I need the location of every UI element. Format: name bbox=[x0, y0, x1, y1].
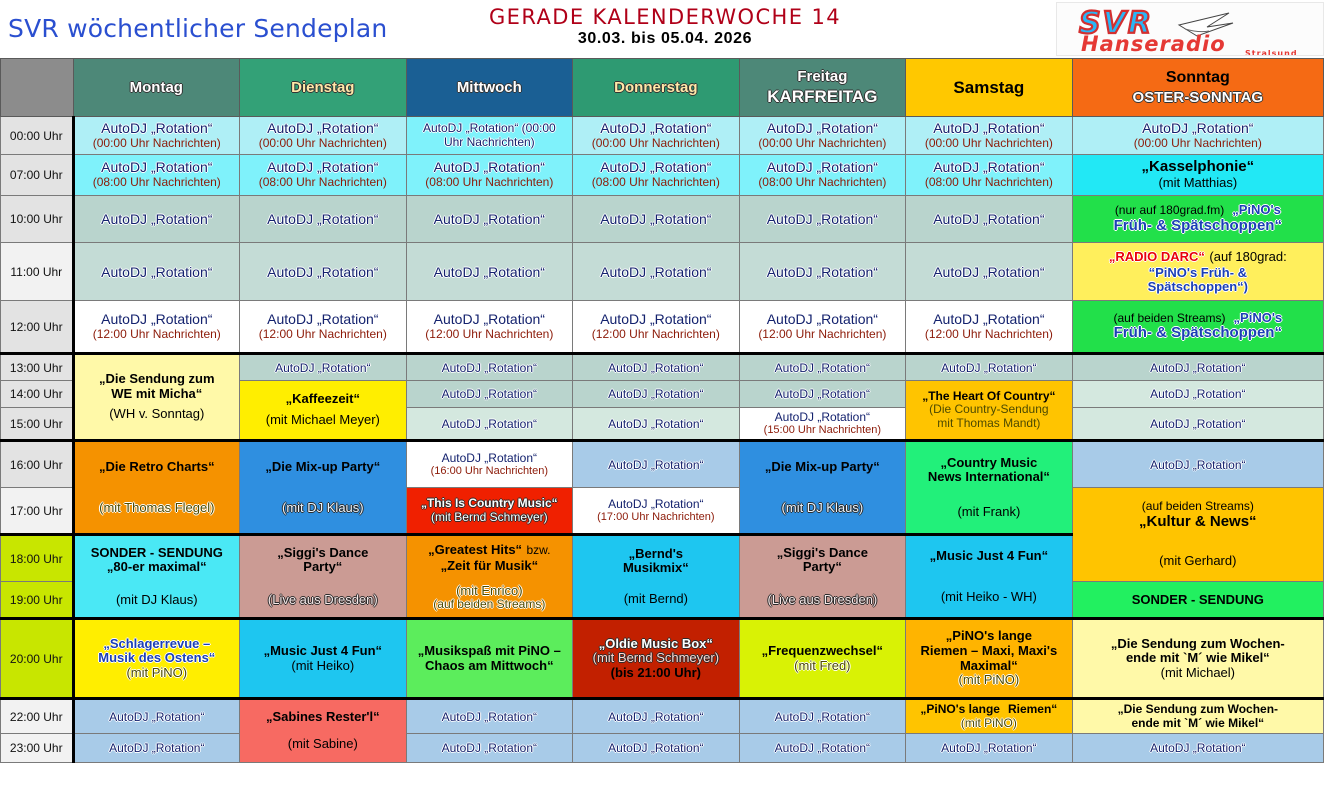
program-title-l1: „Siggi's Dance bbox=[242, 546, 404, 561]
program-sub: (00:00 Uhr Nachrichten) bbox=[77, 137, 238, 150]
cell-fr-2000[interactable]: „Frequenzwechsel“ (mit Fred) bbox=[739, 619, 906, 699]
program-sub: (mit Bernd) bbox=[575, 592, 737, 607]
program-title-l1: „Country Music bbox=[908, 456, 1070, 471]
cell-fr-0000[interactable]: AutoDJ „Rotation“ (00:00 Uhr Nachrichten… bbox=[739, 117, 906, 155]
cell-mi-1800-block[interactable]: „Greatest Hits“ bzw. „Zeit für Musik“ (m… bbox=[406, 535, 573, 619]
cell-sa-1800-block[interactable]: „Music Just 4 Fun“ (mit Heiko - WH) bbox=[906, 535, 1073, 619]
program-title-l2: „Zeit für Musik“ bbox=[409, 559, 571, 574]
program-sub: (mit Frank) bbox=[908, 505, 1070, 520]
time-label-1400: 14:00 Uhr bbox=[1, 381, 74, 408]
cell-di-1800-block[interactable]: „Siggi's Dance Party“ (Live aus Dresden) bbox=[240, 535, 407, 619]
cell-do-1100[interactable]: AutoDJ „Rotation“ bbox=[573, 243, 740, 301]
cell-di-1300[interactable]: AutoDJ „Rotation“ bbox=[240, 354, 407, 381]
program-sub: (08:00 Uhr Nachrichten) bbox=[409, 176, 571, 189]
cell-so-1000[interactable]: (nur auf 180grad.fm) „PiNO's Früh- & Spä… bbox=[1072, 196, 1323, 243]
cell-mo-2000[interactable]: „Schlagerrevue – Musik des Ostens“ (mit … bbox=[73, 619, 240, 699]
cell-fr-1300[interactable]: AutoDJ „Rotation“ bbox=[739, 354, 906, 381]
program-title-l2: Musikmix“ bbox=[575, 561, 737, 576]
cell-mo-1000[interactable]: AutoDJ „Rotation“ bbox=[73, 196, 240, 243]
cell-do-2300[interactable]: AutoDJ „Rotation“ bbox=[573, 734, 740, 763]
cell-mi-1500[interactable]: AutoDJ „Rotation“ bbox=[406, 408, 573, 441]
program-title-l2: Musik des Ostens“ bbox=[77, 651, 238, 666]
program-sub-l1: (mit Bernd Schmeyer) bbox=[575, 651, 737, 666]
program-sub: (mit PiNO) bbox=[908, 673, 1070, 688]
program-title: „Music Just 4 Fun“ bbox=[908, 549, 1070, 564]
cell-mo-1100[interactable]: AutoDJ „Rotation“ bbox=[73, 243, 240, 301]
program-title: AutoDJ „Rotation“ bbox=[409, 361, 571, 375]
program-title: AutoDJ „Rotation“ bbox=[575, 264, 737, 280]
cell-fr-2200[interactable]: AutoDJ „Rotation“ bbox=[739, 699, 906, 734]
schedule-row-2000: 20:00 Uhr „Schlagerrevue – Musik des Ost… bbox=[1, 619, 1324, 699]
cell-mi-1400[interactable]: AutoDJ „Rotation“ bbox=[406, 381, 573, 408]
time-label-1900: 19:00 Uhr bbox=[1, 582, 74, 619]
cell-so-1200[interactable]: (auf beiden Streams) „PiNO's Früh- & Spä… bbox=[1072, 301, 1323, 354]
program-sub-l2: (bis 21:00 Uhr) bbox=[575, 666, 737, 681]
program-title: AutoDJ „Rotation“ bbox=[409, 741, 571, 755]
time-label-2000: 20:00 Uhr bbox=[1, 619, 74, 699]
cell-so-1500[interactable]: AutoDJ „Rotation“ bbox=[1072, 408, 1323, 441]
cell-do-1200[interactable]: AutoDJ „Rotation“ (12:00 Uhr Nachrichten… bbox=[573, 301, 740, 354]
program-title: AutoDJ „Rotation“ bbox=[742, 160, 904, 176]
program-title-l2: Chaos am Mittwoch“ bbox=[409, 659, 571, 674]
program-title: „Sabines Rester'l“ bbox=[242, 710, 404, 725]
time-label-2300: 23:00 Uhr bbox=[1, 734, 74, 763]
program-title-l3: Spätschoppen“) bbox=[1075, 280, 1321, 295]
time-label-0000: 00:00 Uhr bbox=[1, 117, 74, 155]
program-title: AutoDJ „Rotation“ bbox=[742, 264, 904, 280]
program-title: AutoDJ „Rotation“ bbox=[575, 361, 737, 375]
program-title-l2: ende mit `M´ wie Mikel“ bbox=[1075, 717, 1321, 730]
program-title: „Die Mix-up Party“ bbox=[242, 460, 404, 475]
program-title: „Frequenzwechsel“ bbox=[742, 644, 904, 659]
weekly-schedule-table: Montag Dienstag Mittwoch Donnerstag Frei… bbox=[0, 58, 1324, 763]
program-note: (auf 180grad: bbox=[1209, 249, 1286, 264]
program-sub: (00:00 Uhr Nachrichten) bbox=[242, 137, 404, 150]
svr-logo: SVR Hanseradio Stralsund bbox=[1056, 2, 1324, 56]
program-title: „PiNO's bbox=[1232, 203, 1281, 218]
program-title: AutoDJ „Rotation“ bbox=[409, 452, 571, 465]
program-title: AutoDJ „Rotation“ bbox=[575, 211, 737, 227]
program-title-l2: Riemen – Maxi, Maxi's bbox=[908, 644, 1070, 659]
cell-di-0700[interactable]: AutoDJ „Rotation“ (08:00 Uhr Nachrichten… bbox=[240, 155, 407, 196]
cell-sa-1000[interactable]: AutoDJ „Rotation“ bbox=[906, 196, 1073, 243]
cell-mo-1800-block[interactable]: SONDER - SENDUNG „80-er maximal“ (mit DJ… bbox=[73, 535, 240, 619]
program-note: (nur auf 180grad.fm) bbox=[1115, 204, 1224, 217]
program-title: AutoDJ „Rotation“ bbox=[908, 160, 1070, 176]
schedule-row-2300: 23:00 Uhr AutoDJ „Rotation“ AutoDJ „Rota… bbox=[1, 734, 1324, 763]
cell-mi-1300[interactable]: AutoDJ „Rotation“ bbox=[406, 354, 573, 381]
program-title: „PiNO's bbox=[1234, 311, 1283, 326]
program-sub: (00:00 Uhr Nachrichten) bbox=[742, 137, 904, 150]
program-sub: (12:00 Uhr Nachrichten) bbox=[908, 328, 1070, 341]
time-label-1100: 11:00 Uhr bbox=[1, 243, 74, 301]
cell-mo-1600-block[interactable]: „Die Retro Charts“ (mit Thomas Flegel) bbox=[73, 441, 240, 535]
program-sub: (mit Thomas Flegel) bbox=[77, 501, 238, 516]
schedule-row-2200: 22:00 Uhr AutoDJ „Rotation“ „Sabines Res… bbox=[1, 699, 1324, 734]
program-title: AutoDJ „Rotation“ bbox=[409, 417, 571, 431]
program-title: „This Is Country Music“ bbox=[409, 497, 571, 510]
cell-fr-1200[interactable]: AutoDJ „Rotation“ (12:00 Uhr Nachrichten… bbox=[739, 301, 906, 354]
program-title: AutoDJ „Rotation“ bbox=[908, 121, 1070, 137]
program-sub: (mit Heiko - WH) bbox=[908, 590, 1070, 605]
schedule-row-1300: 13:00 Uhr „Die Sendung zum WE mit Micha“… bbox=[1, 354, 1324, 381]
day-header-samstag: Samstag bbox=[906, 59, 1073, 117]
cell-do-1500[interactable]: AutoDJ „Rotation“ bbox=[573, 408, 740, 441]
schedule-row-0700: 07:00 Uhr AutoDJ „Rotation“ (08:00 Uhr N… bbox=[1, 155, 1324, 196]
program-title: AutoDJ „Rotation“ bbox=[242, 264, 404, 280]
cell-so-1700-block[interactable]: (auf beiden Streams) „Kultur & News“ (mi… bbox=[1072, 488, 1323, 582]
program-title: AutoDJ „Rotation“ bbox=[409, 312, 571, 328]
day-header-dienstag: Dienstag bbox=[240, 59, 407, 117]
cell-sa-2200[interactable]: „PiNO's lange Riemen“ (mit PiNO) bbox=[906, 699, 1073, 734]
program-title: AutoDJ „Rotation“ bbox=[742, 312, 904, 328]
cell-so-1600[interactable]: AutoDJ „Rotation“ bbox=[1072, 441, 1323, 488]
program-title-l2: Riemen“ bbox=[1008, 703, 1057, 716]
program-sub: (mit Bernd Schmeyer) bbox=[409, 511, 571, 524]
cell-sa-1200[interactable]: AutoDJ „Rotation“ (12:00 Uhr Nachrichten… bbox=[906, 301, 1073, 354]
program-title: AutoDJ „Rotation“ bbox=[242, 361, 404, 375]
program-title: AutoDJ „Rotation“ bbox=[77, 710, 238, 724]
program-sub: (mit PiNO) bbox=[961, 717, 1017, 730]
cell-fr-1000[interactable]: AutoDJ „Rotation“ bbox=[739, 196, 906, 243]
program-sub: (mit Michael Meyer) bbox=[242, 413, 404, 428]
program-sonder: SONDER - SENDUNG bbox=[1075, 592, 1321, 607]
cell-di-1200[interactable]: AutoDJ „Rotation“ (12:00 Uhr Nachrichten… bbox=[240, 301, 407, 354]
program-title: AutoDJ „Rotation“ bbox=[409, 264, 571, 280]
program-title: AutoDJ „Rotation“ bbox=[1075, 458, 1321, 472]
day-label-sonntag: Sonntag bbox=[1166, 69, 1230, 86]
program-title-l2: ende mit `M´ wie Mikel“ bbox=[1075, 651, 1321, 666]
program-title: AutoDJ „Rotation“ (00:00 bbox=[409, 122, 571, 135]
program-title: „Die Mix-up Party“ bbox=[742, 460, 904, 475]
program-title: AutoDJ „Rotation“ bbox=[575, 458, 737, 472]
program-title: AutoDJ „Rotation“ bbox=[409, 160, 571, 176]
program-sub: (00:00 Uhr Nachrichten) bbox=[575, 137, 737, 150]
program-title: „Music Just 4 Fun“ bbox=[242, 644, 404, 659]
cell-mo-2300[interactable]: AutoDJ „Rotation“ bbox=[73, 734, 240, 763]
time-label-1500: 15:00 Uhr bbox=[1, 408, 74, 441]
schedule-row-1600: 16:00 Uhr „Die Retro Charts“ (mit Thomas… bbox=[1, 441, 1324, 488]
program-sub: (mit DJ Klaus) bbox=[242, 501, 404, 516]
program-sub: (08:00 Uhr Nachrichten) bbox=[908, 176, 1070, 189]
calendar-week-label: GERADE KALENDERWOCHE 14 bbox=[430, 5, 900, 29]
program-sub: (mit Heiko) bbox=[242, 659, 404, 674]
program-sub: (16:00 Uhr Nachrichten) bbox=[409, 465, 571, 477]
program-title-l1: „Greatest Hits“ bbox=[428, 542, 522, 557]
program-title: AutoDJ „Rotation“ bbox=[908, 361, 1070, 375]
program-sub: (mit Michael) bbox=[1075, 666, 1321, 681]
cell-so-2200[interactable]: „Die Sendung zum Wochen- ende mit `M´ wi… bbox=[1072, 699, 1323, 734]
program-title: AutoDJ „Rotation“ bbox=[742, 741, 904, 755]
cell-do-2200[interactable]: AutoDJ „Rotation“ bbox=[573, 699, 740, 734]
program-title: AutoDJ „Rotation“ bbox=[242, 160, 404, 176]
program-title: AutoDJ „Rotation“ bbox=[742, 411, 904, 424]
cell-sa-1100[interactable]: AutoDJ „Rotation“ bbox=[906, 243, 1073, 301]
program-sub: (08:00 Uhr Nachrichten) bbox=[77, 176, 238, 189]
program-title: AutoDJ „Rotation“ bbox=[908, 211, 1070, 227]
cell-mi-2300[interactable]: AutoDJ „Rotation“ bbox=[406, 734, 573, 763]
day-label-samstag: Samstag bbox=[953, 78, 1024, 97]
cell-sa-2000[interactable]: „PiNO's lange Riemen – Maxi, Maxi's Maxi… bbox=[906, 619, 1073, 699]
time-label-1000: 10:00 Uhr bbox=[1, 196, 74, 243]
program-sub: (mit DJ Klaus) bbox=[742, 501, 904, 516]
program-sub: (mit PiNO) bbox=[77, 666, 238, 681]
program-title: „80-er maximal“ bbox=[77, 560, 238, 575]
cell-do-1600[interactable]: AutoDJ „Rotation“ bbox=[573, 441, 740, 488]
program-title: AutoDJ „Rotation“ bbox=[908, 741, 1070, 755]
program-sub: (00:00 Uhr Nachrichten) bbox=[908, 137, 1070, 150]
cell-fr-1800-block[interactable]: „Siggi's Dance Party“ (Live aus Dresden) bbox=[739, 535, 906, 619]
time-label-1600: 16:00 Uhr bbox=[1, 441, 74, 488]
cell-so-1100[interactable]: „RADIO DARC“ (auf 180grad: “PiNO's Früh-… bbox=[1072, 243, 1323, 301]
program-title-l2: News International“ bbox=[908, 470, 1070, 485]
program-title: AutoDJ „Rotation“ bbox=[575, 160, 737, 176]
week-info: GERADE KALENDERWOCHE 14 30.03. bis 05.04… bbox=[430, 5, 900, 48]
cell-so-0000[interactable]: AutoDJ „Rotation“ (00:00 Uhr Nachrichten… bbox=[1072, 117, 1323, 155]
cell-mi-1600[interactable]: AutoDJ „Rotation“ (16:00 Uhr Nachrichten… bbox=[406, 441, 573, 488]
schedule-row-1100: 11:00 Uhr AutoDJ „Rotation“ AutoDJ „Rota… bbox=[1, 243, 1324, 301]
program-title: „Oldie Music Box“ bbox=[575, 637, 737, 652]
program-sonder: SONDER - SENDUNG bbox=[77, 546, 238, 561]
cell-fr-1500[interactable]: AutoDJ „Rotation“ (15:00 Uhr Nachrichten… bbox=[739, 408, 906, 441]
program-title-l2: Party“ bbox=[242, 560, 404, 575]
cell-mi-2000[interactable]: „Musikspaß mit PiNO – Chaos am Mittwoch“ bbox=[406, 619, 573, 699]
program-sub-l2: (auf beiden Streams) bbox=[409, 598, 571, 611]
time-label-1800: 18:00 Uhr bbox=[1, 535, 74, 582]
cell-do-1300[interactable]: AutoDJ „Rotation“ bbox=[573, 354, 740, 381]
schedule-page: SVR wöchentlicher Sendeplan GERADE KALEN… bbox=[0, 0, 1324, 794]
program-sub: (08:00 Uhr Nachrichten) bbox=[742, 176, 904, 189]
program-sub: (Live aus Dresden) bbox=[242, 593, 404, 608]
program-title: AutoDJ „Rotation“ bbox=[742, 361, 904, 375]
cell-mo-0000[interactable]: AutoDJ „Rotation“ (00:00 Uhr Nachrichten… bbox=[73, 117, 240, 155]
program-title: AutoDJ „Rotation“ bbox=[409, 211, 571, 227]
program-title: AutoDJ „Rotation“ bbox=[77, 312, 238, 328]
program-title-l1: „Musikspaß mit PiNO – bbox=[409, 644, 571, 659]
program-title-l1: „PiNO's lange bbox=[908, 629, 1070, 644]
day-label-freitag: Freitag bbox=[797, 68, 847, 85]
program-title: „Die Sendung zum bbox=[77, 372, 238, 387]
day-label-dienstag: Dienstag bbox=[291, 79, 354, 96]
cell-so-0700[interactable]: „Kasselphonie“ (mit Matthias) bbox=[1072, 155, 1323, 196]
cell-so-1300[interactable]: AutoDJ „Rotation“ bbox=[1072, 354, 1323, 381]
day-label-donnerstag: Donnerstag bbox=[614, 79, 697, 96]
program-sub: (08:00 Uhr Nachrichten) bbox=[242, 176, 404, 189]
schedule-row-0000: 00:00 Uhr AutoDJ „Rotation“ (00:00 Uhr N… bbox=[1, 117, 1324, 155]
cell-mo-1300-block[interactable]: „Die Sendung zum WE mit Micha“ (WH v. So… bbox=[73, 354, 240, 441]
schedule-row-1000: 10:00 Uhr AutoDJ „Rotation“ AutoDJ „Rota… bbox=[1, 196, 1324, 243]
program-title: AutoDJ „Rotation“ bbox=[575, 417, 737, 431]
cell-mi-2200[interactable]: AutoDJ „Rotation“ bbox=[406, 699, 573, 734]
program-title-cont: Uhr Nachrichten) bbox=[409, 136, 571, 149]
cell-mi-1200[interactable]: AutoDJ „Rotation“ (12:00 Uhr Nachrichten… bbox=[406, 301, 573, 354]
program-sub: (08:00 Uhr Nachrichten) bbox=[575, 176, 737, 189]
program-sub-l1: (Die Country-Sendung bbox=[908, 403, 1070, 416]
program-sub: (mit Fred) bbox=[742, 659, 904, 674]
program-title: „RADIO DARC“ bbox=[1109, 249, 1205, 264]
cell-so-2000[interactable]: „Die Sendung zum Wochen- ende mit `M´ wi… bbox=[1072, 619, 1323, 699]
program-title: AutoDJ „Rotation“ bbox=[242, 312, 404, 328]
day-header-donnerstag: Donnerstag bbox=[573, 59, 740, 117]
program-sub: (12:00 Uhr Nachrichten) bbox=[742, 328, 904, 341]
program-title: AutoDJ „Rotation“ bbox=[242, 121, 404, 137]
program-sub: (Live aus Dresden) bbox=[742, 593, 904, 608]
cell-fr-2300[interactable]: AutoDJ „Rotation“ bbox=[739, 734, 906, 763]
cell-di-2200-block[interactable]: „Sabines Rester'l“ (mit Sabine) bbox=[240, 699, 407, 763]
cell-sa-2300[interactable]: AutoDJ „Rotation“ bbox=[906, 734, 1073, 763]
cell-di-2000[interactable]: „Music Just 4 Fun“ (mit Heiko) bbox=[240, 619, 407, 699]
page-header: SVR wöchentlicher Sendeplan GERADE KALEN… bbox=[0, 0, 1324, 58]
cell-sa-1400-block[interactable]: „The Heart Of Country“ (Die Country-Send… bbox=[906, 381, 1073, 441]
program-title: AutoDJ „Rotation“ bbox=[409, 387, 571, 401]
cell-do-1800-block[interactable]: „Bernd's Musikmix“ (mit Bernd) bbox=[573, 535, 740, 619]
program-title: AutoDJ „Rotation“ bbox=[575, 710, 737, 724]
cell-di-0000[interactable]: AutoDJ „Rotation“ (00:00 Uhr Nachrichten… bbox=[240, 117, 407, 155]
cell-do-1700[interactable]: AutoDJ „Rotation“ (17:00 Uhr Nachrichten… bbox=[573, 488, 740, 535]
time-label-2200: 22:00 Uhr bbox=[1, 699, 74, 734]
cell-so-2300[interactable]: AutoDJ „Rotation“ bbox=[1072, 734, 1323, 763]
program-title: AutoDJ „Rotation“ bbox=[1075, 417, 1321, 431]
program-title: AutoDJ „Rotation“ bbox=[742, 710, 904, 724]
program-sub: (17:00 Uhr Nachrichten) bbox=[575, 511, 737, 523]
page-title: SVR wöchentlicher Sendeplan bbox=[8, 14, 387, 43]
day-header-row: Montag Dienstag Mittwoch Donnerstag Frei… bbox=[1, 59, 1324, 117]
program-title: „Kultur & News“ bbox=[1075, 514, 1321, 531]
program-sub: (00:00 Uhr Nachrichten) bbox=[1075, 137, 1321, 150]
cell-sa-1300[interactable]: AutoDJ „Rotation“ bbox=[906, 354, 1073, 381]
program-title: AutoDJ „Rotation“ bbox=[77, 741, 238, 755]
svg-text:Stralsund: Stralsund bbox=[1245, 49, 1298, 56]
svr-logo-graphic: SVR Hanseradio Stralsund bbox=[1057, 3, 1324, 56]
day-header-montag: Montag bbox=[73, 59, 240, 117]
cell-mo-2200[interactable]: AutoDJ „Rotation“ bbox=[73, 699, 240, 734]
program-title-l1: „Die Sendung zum Wochen- bbox=[1075, 703, 1321, 716]
cell-sa-0700[interactable]: AutoDJ „Rotation“ (08:00 Uhr Nachrichten… bbox=[906, 155, 1073, 196]
cell-mi-1700[interactable]: „This Is Country Music“ (mit Bernd Schme… bbox=[406, 488, 573, 535]
program-title: AutoDJ „Rotation“ bbox=[77, 121, 238, 137]
program-sub: (12:00 Uhr Nachrichten) bbox=[77, 328, 238, 341]
cell-sa-0000[interactable]: AutoDJ „Rotation“ (00:00 Uhr Nachrichten… bbox=[906, 117, 1073, 155]
program-title-l3: Maximal“ bbox=[908, 659, 1070, 674]
program-title-cont: Früh- & Spätschoppen“ bbox=[1075, 218, 1321, 235]
cell-do-1000[interactable]: AutoDJ „Rotation“ bbox=[573, 196, 740, 243]
program-title: AutoDJ „Rotation“ bbox=[575, 741, 737, 755]
program-title: AutoDJ „Rotation“ bbox=[77, 211, 238, 227]
program-title-l1: „Die Sendung zum Wochen- bbox=[1075, 637, 1321, 652]
cell-do-1400[interactable]: AutoDJ „Rotation“ bbox=[573, 381, 740, 408]
corner-cell bbox=[1, 59, 74, 117]
day-sub-karfreitag: KARFREITAG bbox=[742, 87, 904, 107]
program-sub: (12:00 Uhr Nachrichten) bbox=[242, 328, 404, 341]
cell-so-1900[interactable]: SONDER - SENDUNG bbox=[1072, 582, 1323, 619]
cell-sa-1600-block[interactable]: „Country Music News International“ (mit … bbox=[906, 441, 1073, 535]
program-title: „Kasselphonie“ bbox=[1075, 159, 1321, 176]
time-label-0700: 07:00 Uhr bbox=[1, 155, 74, 196]
time-label-1700: 17:00 Uhr bbox=[1, 488, 74, 535]
cell-fr-0700[interactable]: AutoDJ „Rotation“ (08:00 Uhr Nachrichten… bbox=[739, 155, 906, 196]
cell-mi-1100[interactable]: AutoDJ „Rotation“ bbox=[406, 243, 573, 301]
cell-do-0700[interactable]: AutoDJ „Rotation“ (08:00 Uhr Nachrichten… bbox=[573, 155, 740, 196]
program-title: AutoDJ „Rotation“ bbox=[908, 264, 1070, 280]
day-header-sonntag: Sonntag OSTER-SONNTAG bbox=[1072, 59, 1323, 117]
day-header-freitag: Freitag KARFREITAG bbox=[739, 59, 906, 117]
cell-do-0000[interactable]: AutoDJ „Rotation“ (00:00 Uhr Nachrichten… bbox=[573, 117, 740, 155]
program-title-cont: WE mit Micha“ bbox=[77, 387, 238, 402]
program-title-cont: Früh- & Spätschoppen“ bbox=[1075, 325, 1321, 342]
program-title: AutoDJ „Rotation“ bbox=[908, 312, 1070, 328]
program-sub: (mit DJ Klaus) bbox=[77, 593, 238, 608]
cell-mi-0700[interactable]: AutoDJ „Rotation“ (08:00 Uhr Nachrichten… bbox=[406, 155, 573, 196]
program-title: AutoDJ „Rotation“ bbox=[575, 312, 737, 328]
program-sub-l1: (mit Enrico) bbox=[409, 584, 571, 599]
day-label-montag: Montag bbox=[130, 79, 183, 96]
program-sub: (12:00 Uhr Nachrichten) bbox=[409, 328, 571, 341]
program-title: AutoDJ „Rotation“ bbox=[77, 160, 238, 176]
program-title: „Kaffeezeit“ bbox=[242, 392, 404, 407]
program-sub: (mit Matthias) bbox=[1075, 176, 1321, 191]
program-title: AutoDJ „Rotation“ bbox=[575, 387, 737, 401]
program-sub: (WH v. Sonntag) bbox=[77, 407, 238, 422]
program-title-l1: „Bernd's bbox=[575, 547, 737, 562]
program-title: AutoDJ „Rotation“ bbox=[1075, 361, 1321, 375]
program-title-l1: „PiNO's lange bbox=[920, 703, 1000, 716]
cell-mi-1000[interactable]: AutoDJ „Rotation“ bbox=[406, 196, 573, 243]
program-title-l2: Party“ bbox=[742, 560, 904, 575]
cell-do-2000[interactable]: „Oldie Music Box“ (mit Bernd Schmeyer) (… bbox=[573, 619, 740, 699]
program-title: AutoDJ „Rotation“ bbox=[575, 121, 737, 137]
program-title-l1: „Siggi's Dance bbox=[742, 546, 904, 561]
program-sub: (mit Sabine) bbox=[242, 737, 404, 752]
program-title-l2: “PiNO's Früh- & bbox=[1075, 266, 1321, 281]
svg-text:Hanseradio: Hanseradio bbox=[1081, 32, 1226, 56]
cell-mo-0700[interactable]: AutoDJ „Rotation“ (08:00 Uhr Nachrichten… bbox=[73, 155, 240, 196]
program-title: AutoDJ „Rotation“ bbox=[1075, 741, 1321, 755]
day-label-mittwoch: Mittwoch bbox=[457, 79, 522, 96]
program-title: AutoDJ „Rotation“ bbox=[1075, 121, 1321, 137]
day-sub-ostersonntag: OSTER-SONNTAG bbox=[1075, 89, 1321, 106]
program-title: AutoDJ „Rotation“ bbox=[77, 264, 238, 280]
cell-mi-0000[interactable]: AutoDJ „Rotation“ (00:00 Uhr Nachrichten… bbox=[406, 117, 573, 155]
time-label-1300: 13:00 Uhr bbox=[1, 354, 74, 381]
program-title: AutoDJ „Rotation“ bbox=[742, 121, 904, 137]
program-title: AutoDJ „Rotation“ bbox=[575, 498, 737, 511]
time-label-1200: 12:00 Uhr bbox=[1, 301, 74, 354]
cell-fr-1400[interactable]: AutoDJ „Rotation“ bbox=[739, 381, 906, 408]
cell-di-1000[interactable]: AutoDJ „Rotation“ bbox=[240, 196, 407, 243]
program-sub-l2: mit Thomas Mandt) bbox=[908, 417, 1070, 430]
program-title: AutoDJ „Rotation“ bbox=[742, 387, 904, 401]
cell-fr-1600-block[interactable]: „Die Mix-up Party“ (mit DJ Klaus) bbox=[739, 441, 906, 535]
cell-so-1400[interactable]: AutoDJ „Rotation“ bbox=[1072, 381, 1323, 408]
program-sub: (12:00 Uhr Nachrichten) bbox=[575, 328, 737, 341]
cell-di-1100[interactable]: AutoDJ „Rotation“ bbox=[240, 243, 407, 301]
program-sub: (15:00 Uhr Nachrichten) bbox=[742, 424, 904, 436]
program-note: (auf beiden Streams) bbox=[1113, 312, 1225, 325]
cell-di-1400-block[interactable]: „Kaffeezeit“ (mit Michael Meyer) bbox=[240, 381, 407, 441]
program-title: AutoDJ „Rotation“ bbox=[1075, 387, 1321, 401]
cell-mo-1200[interactable]: AutoDJ „Rotation“ (12:00 Uhr Nachrichten… bbox=[73, 301, 240, 354]
program-title: „The Heart Of Country“ bbox=[908, 390, 1070, 403]
program-note: (auf beiden Streams) bbox=[1075, 500, 1321, 513]
cell-di-1600-block[interactable]: „Die Mix-up Party“ (mit DJ Klaus) bbox=[240, 441, 407, 535]
cell-fr-1100[interactable]: AutoDJ „Rotation“ bbox=[739, 243, 906, 301]
program-bzw: bzw. bbox=[527, 543, 551, 557]
schedule-row-1200: 12:00 Uhr AutoDJ „Rotation“ (12:00 Uhr N… bbox=[1, 301, 1324, 354]
program-title: AutoDJ „Rotation“ bbox=[409, 710, 571, 724]
day-header-mittwoch: Mittwoch bbox=[406, 59, 573, 117]
program-title: „Die Retro Charts“ bbox=[77, 460, 238, 475]
program-title: AutoDJ „Rotation“ bbox=[742, 211, 904, 227]
